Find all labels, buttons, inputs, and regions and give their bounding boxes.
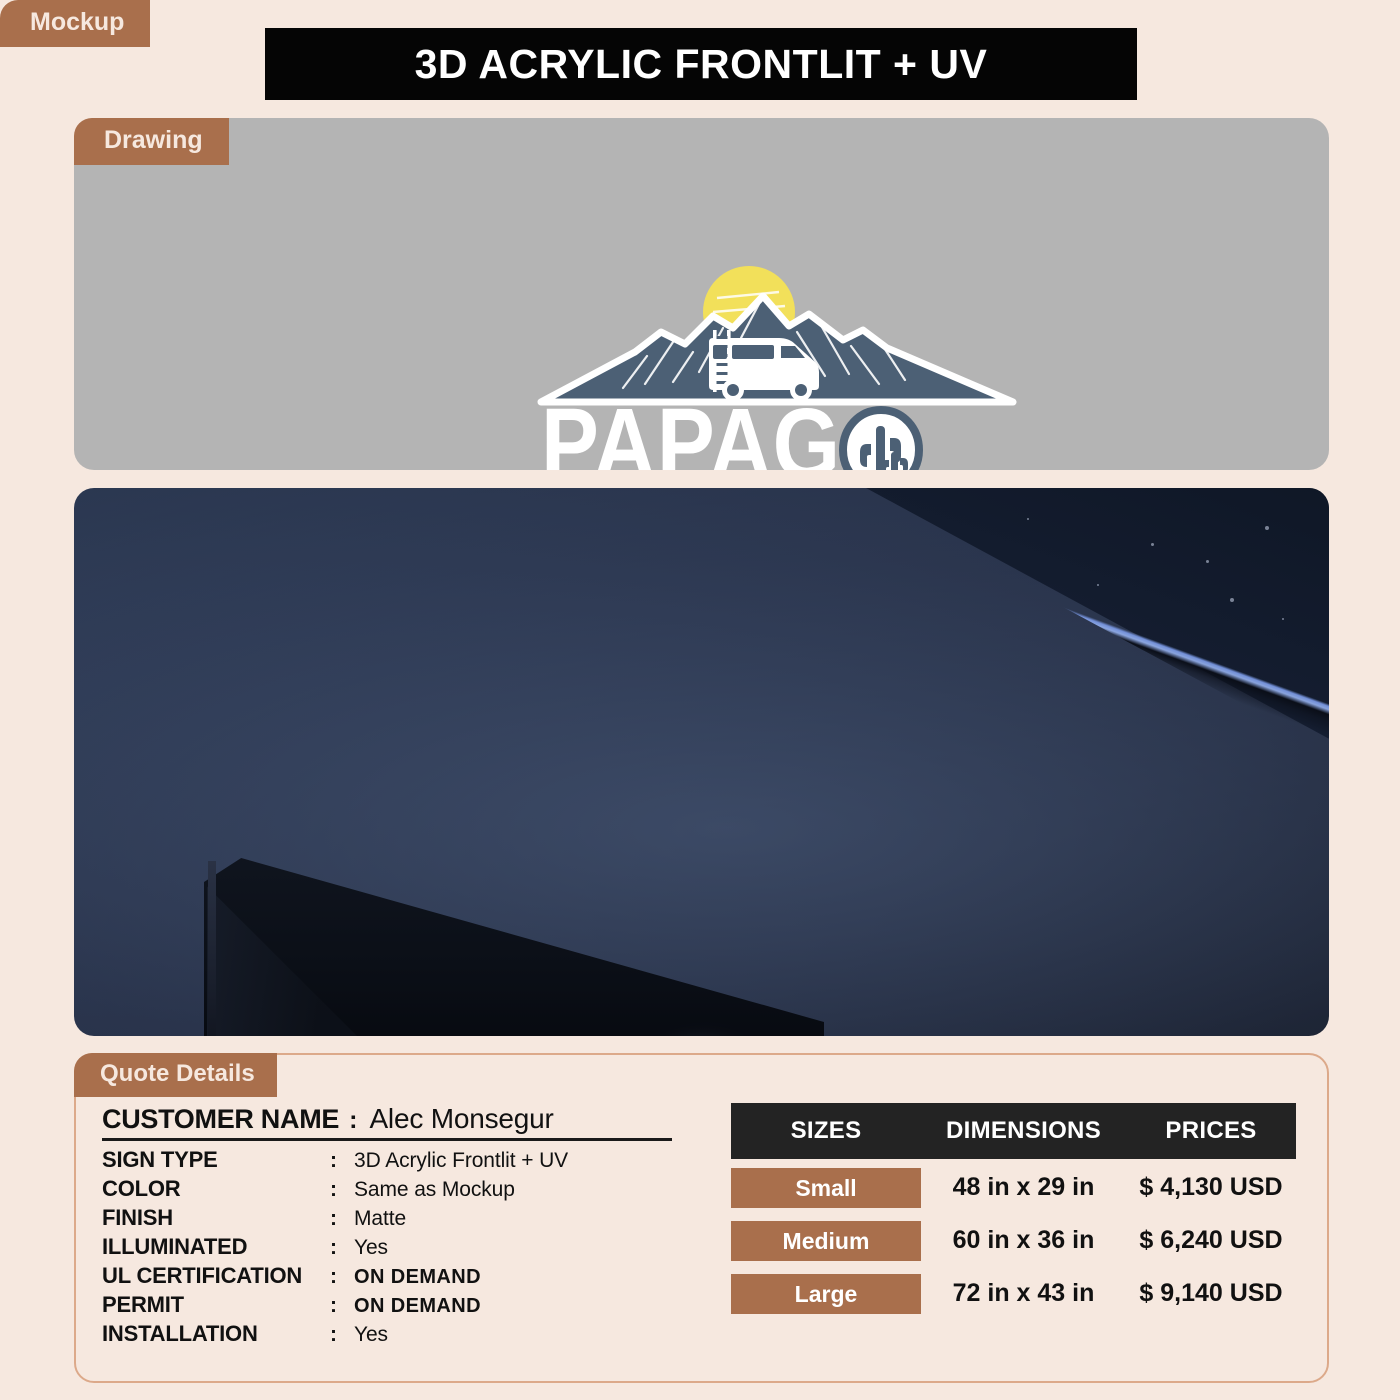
spec-label: COLOR	[102, 1176, 330, 1202]
spec-row-illuminated: ILLUMINATED : Yes	[102, 1234, 672, 1260]
drawing-panel: PAPAG VANS	[74, 118, 1329, 470]
spec-value: 3D Acrylic Frontlit + UV	[354, 1149, 568, 1173]
star-speck	[1151, 543, 1154, 546]
table-row: Small 48 in x 29 in $ 4,130 USD	[731, 1163, 1296, 1212]
spec-row-permit: PERMIT : ON DEMAND	[102, 1292, 672, 1318]
awning-edge	[208, 861, 216, 1036]
spec-list: CUSTOMER NAME : Alec Monsegur SIGN TYPE …	[102, 1103, 672, 1347]
pricing-table-header: SIZES DIMENSIONS PRICES	[731, 1103, 1296, 1159]
wall-edge-highlight	[839, 488, 1329, 756]
size-badge-large: Large	[731, 1274, 921, 1314]
quote-section-badge: Quote Details	[74, 1053, 277, 1097]
customer-name-row: CUSTOMER NAME : Alec Monsegur	[102, 1103, 672, 1141]
size-badge-small: Small	[731, 1168, 921, 1208]
column-header-sizes: SIZES	[731, 1117, 921, 1145]
spec-row-sign-type: SIGN TYPE : 3D Acrylic Frontlit + UV	[102, 1147, 672, 1173]
pricing-table: SIZES DIMENSIONS PRICES Small 48 in x 29…	[731, 1103, 1296, 1318]
spec-row-installation: INSTALLATION : Yes	[102, 1321, 672, 1347]
papago-vans-logo-drawing: PAPAG VANS	[527, 256, 1027, 470]
star-speck	[1027, 518, 1029, 520]
page-title: 3D ACRYLIC FRONTLIT + UV	[415, 41, 988, 88]
spec-label: INSTALLATION	[102, 1321, 330, 1347]
customer-name-value: Alec Monsegur	[369, 1103, 553, 1135]
star-speck	[1282, 618, 1284, 620]
spec-value: Matte	[354, 1207, 406, 1231]
price-value: $ 6,240 USD	[1126, 1226, 1296, 1255]
size-badge-medium: Medium	[731, 1221, 921, 1261]
spec-label: UL CERTIFICATION	[102, 1263, 330, 1289]
spec-row-ul-certification: UL CERTIFICATION : ON DEMAND	[102, 1263, 672, 1289]
mockup-section-badge: Mockup	[0, 0, 150, 47]
spec-row-color: COLOR : Same as Mockup	[102, 1176, 672, 1202]
spec-separator: :	[330, 1207, 354, 1231]
star-speck	[1230, 598, 1234, 602]
cactus-icon	[843, 410, 919, 470]
dimensions-value: 72 in x 43 in	[921, 1279, 1126, 1308]
spec-value: ON DEMAND	[354, 1266, 481, 1289]
star-speck	[1206, 560, 1209, 563]
dimensions-value: 60 in x 36 in	[921, 1226, 1126, 1255]
column-header-prices: PRICES	[1126, 1117, 1296, 1145]
spec-separator: :	[330, 1265, 354, 1289]
spec-label: ILLUMINATED	[102, 1234, 330, 1260]
spec-row-finish: FINISH : Matte	[102, 1205, 672, 1231]
quote-details-panel: CUSTOMER NAME : Alec Monsegur SIGN TYPE …	[74, 1053, 1329, 1383]
spec-label: PERMIT	[102, 1292, 330, 1318]
spec-value: Yes	[354, 1323, 388, 1347]
star-speck	[1097, 584, 1099, 586]
page-title-bar: 3D ACRYLIC FRONTLIT + UV	[265, 28, 1137, 100]
drawing-section-badge: Drawing	[74, 118, 229, 165]
spec-separator: :	[330, 1323, 354, 1347]
price-value: $ 9,140 USD	[1126, 1279, 1296, 1308]
dimensions-value: 48 in x 29 in	[921, 1173, 1126, 1202]
spec-value: ON DEMAND	[354, 1295, 481, 1318]
customer-name-separator: :	[349, 1106, 357, 1135]
spec-value: Yes	[354, 1236, 388, 1260]
spec-separator: :	[330, 1294, 354, 1318]
spec-separator: :	[330, 1178, 354, 1202]
spec-label: FINISH	[102, 1205, 330, 1231]
table-row: Medium 60 in x 36 in $ 6,240 USD	[731, 1216, 1296, 1265]
spec-value: Same as Mockup	[354, 1178, 515, 1202]
star-speck	[1265, 526, 1269, 530]
price-value: $ 4,130 USD	[1126, 1173, 1296, 1202]
table-row: Large 72 in x 43 in $ 9,140 USD	[731, 1269, 1296, 1318]
mockup-panel: PAPAG VANS	[74, 488, 1329, 1036]
spec-separator: :	[330, 1149, 354, 1173]
customer-name-label: CUSTOMER NAME	[102, 1104, 339, 1135]
column-header-dimensions: DIMENSIONS	[921, 1117, 1126, 1145]
spec-separator: :	[330, 1236, 354, 1260]
spec-label: SIGN TYPE	[102, 1147, 330, 1173]
logo-brand-top: PAPAG	[541, 388, 841, 470]
